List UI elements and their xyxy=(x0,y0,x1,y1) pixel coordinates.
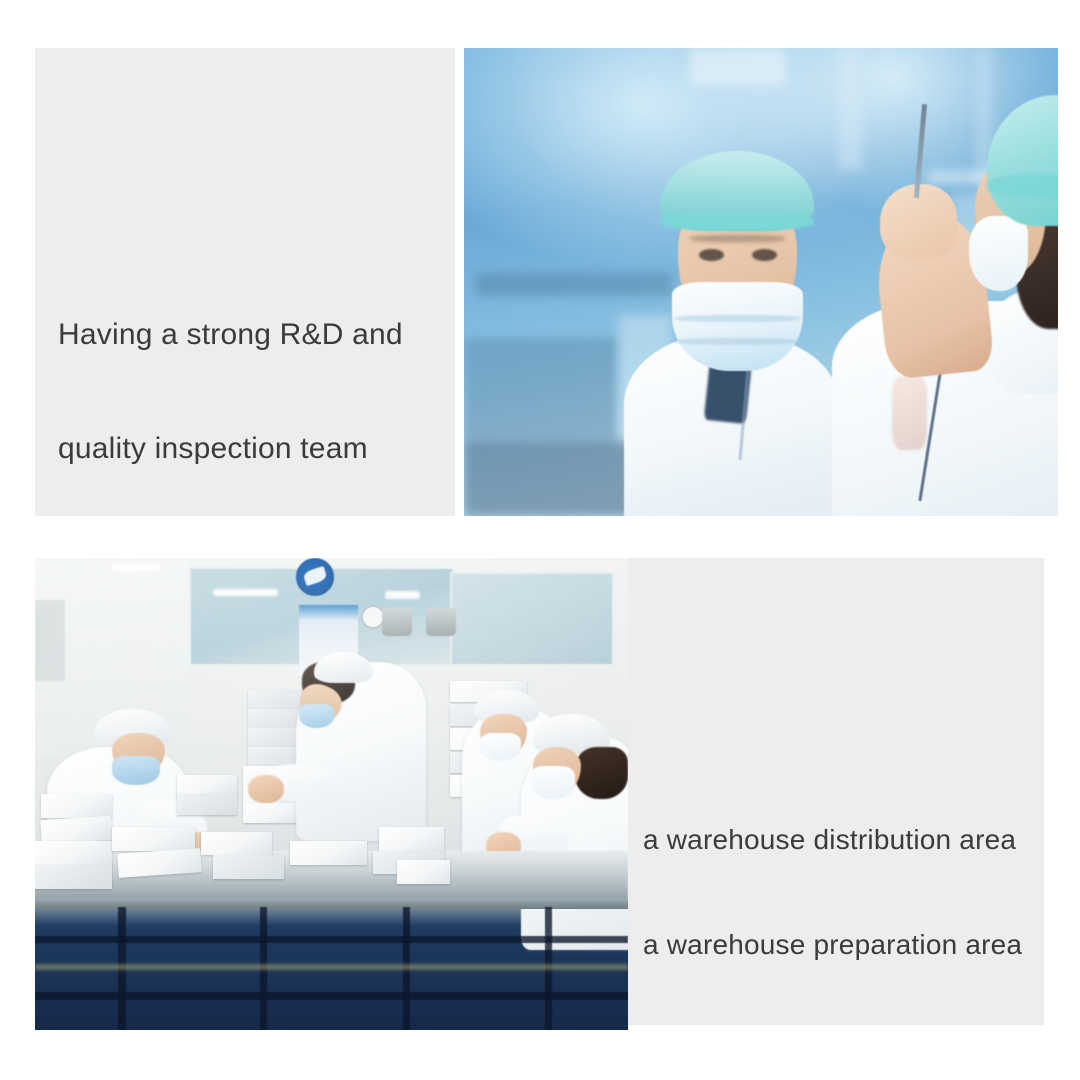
lab-worker-front-mask-fold-2 xyxy=(675,338,800,345)
warehouse-wall-frame xyxy=(35,600,65,680)
warehouse-worker-right-face-mask xyxy=(530,766,574,799)
warehouse-ceiling-lamp-left xyxy=(112,564,159,572)
carton-front-1 xyxy=(41,794,112,818)
warehouse-glass-partition-right xyxy=(450,572,614,666)
lab-bench-edge xyxy=(476,273,672,296)
carton-front-9 xyxy=(290,841,367,865)
laboratory-quality-inspection-photo xyxy=(464,48,1058,516)
warehouse-ceiling-lamp-center xyxy=(213,589,278,597)
carton-stack-back-1 xyxy=(248,690,301,709)
lab-sample-container-lower xyxy=(892,376,928,451)
top-caption-line-1: Having a strong R&D and xyxy=(58,316,403,354)
carton-front-3 xyxy=(35,841,112,866)
bottom-caption-line-1: a warehouse distribution area xyxy=(643,822,1022,857)
warehouse-worker-right-hair xyxy=(575,747,628,799)
carton-front-2 xyxy=(40,815,113,843)
warehouse-steel-vessel-2 xyxy=(426,608,456,636)
lab-worker-profile-hairnet-ruffle xyxy=(987,174,1058,197)
warehouse-floor-marking xyxy=(35,964,628,970)
bottom-caption-line-2: a warehouse preparation area xyxy=(643,927,1022,962)
warehouse-worker-center-left-hand xyxy=(248,775,284,803)
top-caption: Having a strong R&D and quality inspecti… xyxy=(58,240,403,544)
carton-front-4 xyxy=(35,865,112,890)
carton-front-5 xyxy=(112,827,195,851)
lab-worker-front-hairnet-band xyxy=(660,212,814,231)
warehouse-worker-left-face-mask xyxy=(112,756,159,784)
lab-worker-front-brow xyxy=(690,235,785,242)
lab-worker-profile-face-mask xyxy=(969,216,1028,291)
carton-front-14 xyxy=(397,860,450,884)
bottom-caption: a warehouse distribution area a warehous… xyxy=(643,752,1022,1032)
lab-background-column xyxy=(838,48,862,170)
carton-front-7 xyxy=(201,832,272,856)
carton-stack-back-4 xyxy=(248,747,301,766)
lab-worker-front-mask-fold-1 xyxy=(675,315,800,322)
warehouse-blue-sign-icon xyxy=(296,558,335,596)
warehouse-packing-area-photo xyxy=(35,558,628,1030)
page-canvas: Having a strong R&D and quality inspecti… xyxy=(0,0,1080,1080)
lab-equipment-left xyxy=(464,338,618,441)
carton-front-8 xyxy=(213,855,284,879)
top-caption-line-2: quality inspection team xyxy=(58,430,403,468)
lab-ceiling-light xyxy=(690,48,785,85)
warehouse-ceiling-lamp-right xyxy=(385,591,421,599)
carton-stack-back-2 xyxy=(248,709,301,728)
carton-stack-back-7 xyxy=(243,803,302,823)
warehouse-steel-vessel-1 xyxy=(382,608,412,636)
lab-worker-front-face-mask xyxy=(672,282,803,371)
carton-front-10 xyxy=(379,827,444,851)
warehouse-worker-center-right-face-mask xyxy=(480,733,522,761)
warehouse-worker-center-left-face-mask xyxy=(299,704,335,728)
warehouse-worker-center-left-hairnet xyxy=(314,652,373,683)
carton-front-12 xyxy=(177,775,236,796)
carton-front-13 xyxy=(177,794,236,815)
carton-stack-back-3 xyxy=(248,728,301,747)
